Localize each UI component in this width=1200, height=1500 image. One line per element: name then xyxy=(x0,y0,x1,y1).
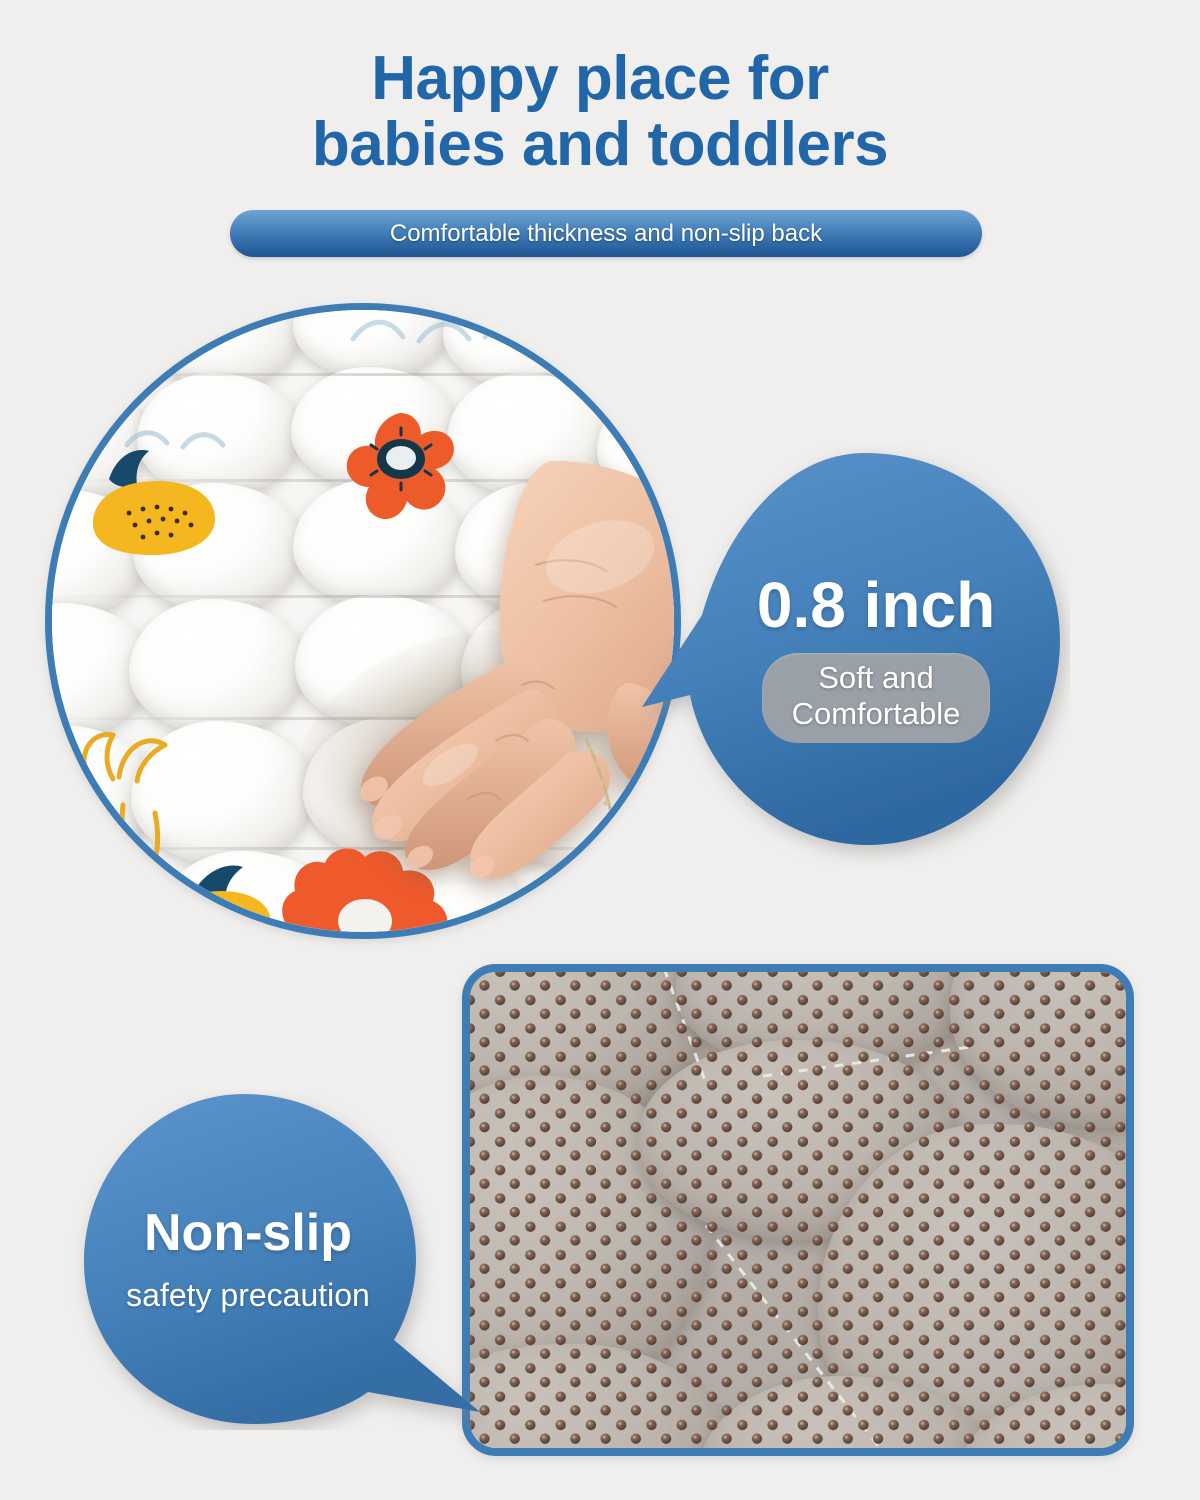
nonslip-headline: Non-slip xyxy=(144,1207,352,1259)
thickness-pill: Soft and Comfortable xyxy=(762,653,991,743)
subtitle-text: Comfortable thickness and non-slip back xyxy=(390,220,822,248)
quilt-puff xyxy=(129,599,305,735)
nonslip-scene xyxy=(462,964,1134,1456)
mattress-scene xyxy=(45,303,681,939)
page-title: Happy place for babies and toddlers xyxy=(0,0,1200,177)
thickness-headline: 0.8 inch xyxy=(757,573,995,637)
callout-thickness: 0.8 inch Soft and Comfortable xyxy=(640,445,1070,875)
mattress-softness-photo xyxy=(45,303,681,939)
motif-pale-print xyxy=(345,309,565,362)
hand-pressing xyxy=(300,453,681,903)
infographic-page: Happy place for babies and toddlers Comf… xyxy=(0,0,1200,1500)
callout-nonslip: Non-slip safety precaution xyxy=(68,1090,488,1430)
nonslip-backing-photo xyxy=(462,964,1134,1456)
header: Happy place for babies and toddlers xyxy=(0,0,1200,177)
thickness-pill-text: Soft and Comfortable xyxy=(792,660,961,732)
motif-pale-print xyxy=(121,423,271,462)
silicone-grip-dots xyxy=(462,964,1134,1456)
quilt-seam xyxy=(45,373,681,376)
motif-yellow-lemon xyxy=(163,889,275,939)
motif-yellow-lemon xyxy=(87,479,219,557)
subtitle-banner: Comfortable thickness and non-slip back xyxy=(230,210,982,257)
nonslip-subtext: safety precaution xyxy=(126,1277,370,1314)
